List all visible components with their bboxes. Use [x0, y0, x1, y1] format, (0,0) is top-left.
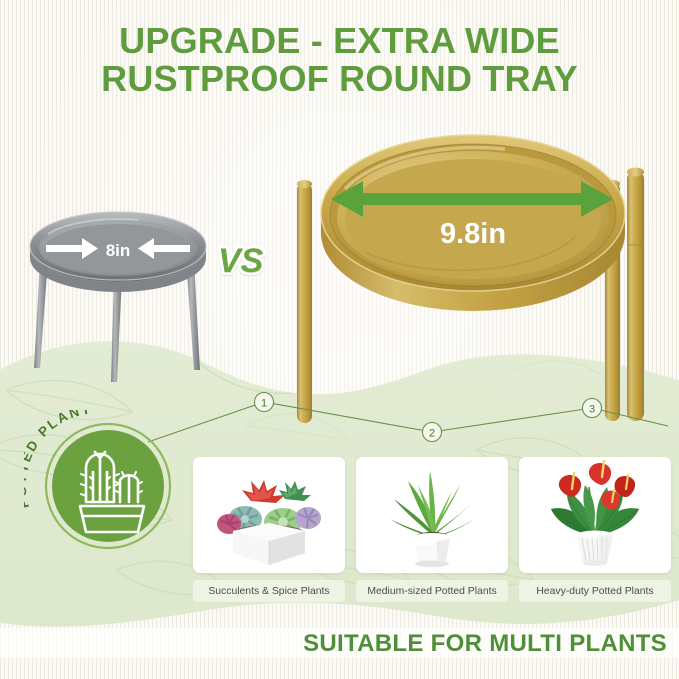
white-ribbed-pot [577, 531, 613, 567]
white-round-pot [414, 533, 450, 567]
aloe-leaves [390, 471, 474, 537]
old-product-gray-tray-table: 8in [18, 186, 218, 386]
aloe-plant-icon [356, 457, 508, 573]
old-product-measurement-label: 8in [106, 241, 131, 260]
plant-card-3[interactable]: Heavy-duty Potted Plants [519, 457, 671, 612]
infographic-stage: UPGRADE - EXTRA WIDE RUSTPROOF ROUND TRA… [0, 0, 679, 679]
plant-card-2-label: Medium-sized Potted Plants [356, 580, 508, 602]
headline-line-2: RUSTPROOF ROUND TRAY [0, 60, 679, 98]
versus-badge: VS VS [214, 238, 274, 290]
step-number-1: 1 [261, 398, 267, 410]
plant-card-1-image [193, 457, 345, 573]
potted-plant-badge: POTTED PLANT [24, 410, 194, 560]
anthurium-plant-icon [519, 457, 671, 573]
plant-card-list: Succulents & Spice Plants [193, 457, 671, 612]
step-number-2: 2 [429, 428, 435, 440]
headline-line-1: UPGRADE - EXTRA WIDE [0, 22, 679, 60]
new-product-measurement-label: 9.8in [440, 218, 506, 250]
plant-card-1[interactable]: Succulents & Spice Plants [193, 457, 345, 612]
plant-card-1-label: Succulents & Spice Plants [193, 580, 345, 602]
page-title: UPGRADE - EXTRA WIDE RUSTPROOF ROUND TRA… [0, 22, 679, 98]
step-node-1: 1 [255, 393, 274, 412]
plant-card-3-image [519, 457, 671, 573]
step-number-3: 3 [589, 404, 595, 416]
step-node-2: 2 [423, 423, 442, 442]
footer-tagline: SUITABLE FOR MULTI PLANTS [303, 630, 667, 658]
versus-label: VS [218, 242, 264, 280]
white-hexagon-pot [233, 523, 305, 565]
plant-card-2-image [356, 457, 508, 573]
succulent-arrangement-icon [193, 457, 345, 573]
step-node-3: 3 [583, 399, 602, 418]
plant-card-2[interactable]: Medium-sized Potted Plants [356, 457, 508, 612]
plant-card-3-label: Heavy-duty Potted Plants [519, 580, 671, 602]
